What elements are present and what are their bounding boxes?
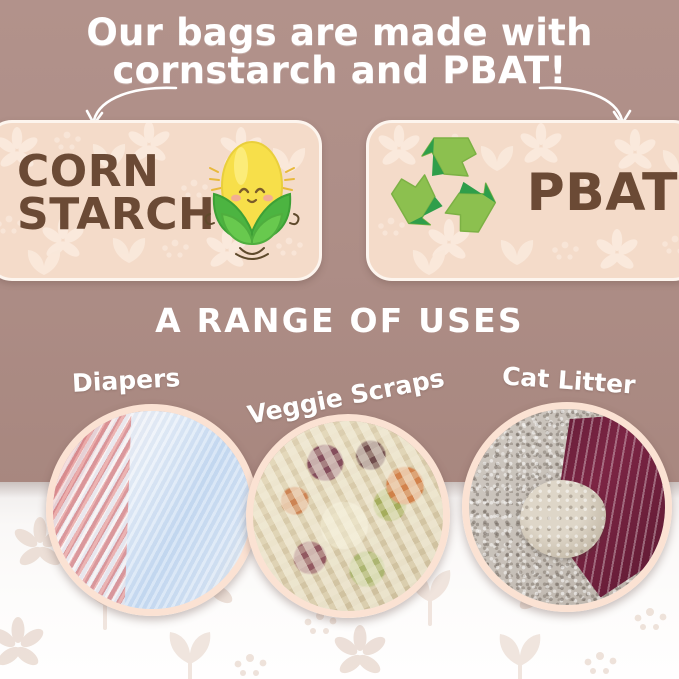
uses-section-title: A RANGE OF USES — [0, 301, 679, 340]
use-case-photo-cat-litter — [462, 402, 672, 612]
cornstarch-label-line-2: STARCH — [17, 194, 215, 237]
cat-litter-photo — [469, 409, 665, 605]
cornstarch-label: CORN STARCH — [17, 151, 215, 236]
corn-mascot-icon — [196, 128, 308, 263]
veggie-scraps-photo — [253, 421, 443, 611]
headline-line-1: Our bags are made with — [86, 11, 592, 54]
page-title: Our bags are made with cornstarch and PB… — [0, 14, 679, 90]
diapers-photo — [53, 411, 251, 609]
cornstarch-label-line-1: CORN — [17, 151, 215, 194]
pbat-label: PBAT — [527, 168, 678, 218]
use-case-photo-diapers — [46, 404, 258, 616]
infographic-canvas: Our bags are made with cornstarch and PB… — [0, 0, 679, 679]
recycle-icon — [376, 132, 516, 257]
use-case-photo-veggie-scraps — [246, 414, 450, 618]
use-case-caption-diapers: Diapers — [71, 363, 181, 398]
